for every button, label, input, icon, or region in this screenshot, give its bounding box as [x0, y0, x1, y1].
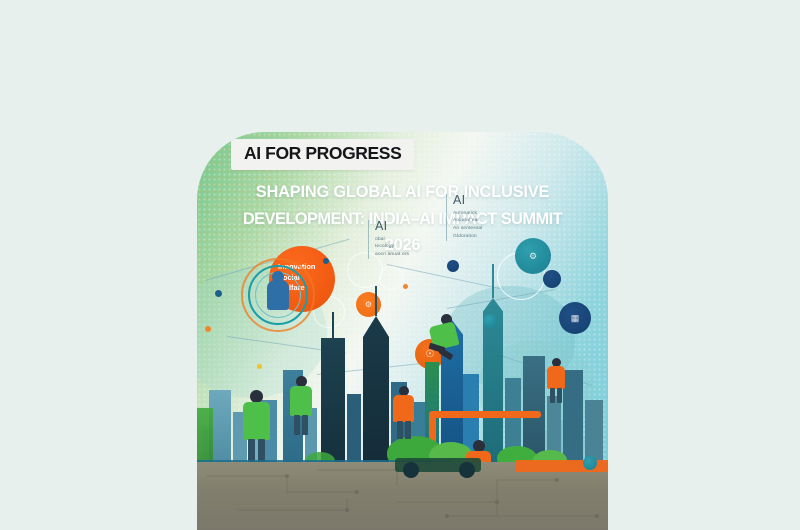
node-chip-icon: ▦ — [559, 302, 591, 334]
network-node-blue — [543, 270, 561, 288]
hud-figure-body-icon — [267, 280, 289, 310]
poster: AI FOR PROGRESS SHAPING GLOBAL AI FOR IN… — [197, 132, 608, 530]
label-rule — [368, 220, 369, 259]
network-node-teal: ⚙ — [515, 238, 551, 274]
person-legs — [294, 415, 300, 435]
callout-ai-right: AI Autonatick Aolleral ear An sentessal … — [453, 194, 529, 241]
ground-node — [583, 456, 597, 470]
node-dna-icon: ⚙ — [515, 238, 551, 274]
title-line-1: SHAPING GLOBAL AI FOR INCLUSIVE — [219, 179, 586, 206]
network-node-dot — [323, 258, 329, 264]
callout-sub-1: obal — [375, 236, 441, 244]
spire — [492, 264, 494, 298]
person-legs — [557, 388, 562, 403]
person-torso — [243, 402, 270, 440]
vehicle-wheel — [459, 462, 475, 478]
callout-ai-center: AI obal tecology aocn anuat ors — [375, 220, 441, 259]
network-node-dot — [215, 290, 222, 297]
callout-sub-1: Autonatick — [453, 210, 529, 218]
building — [563, 370, 583, 466]
network-node-blue — [447, 260, 459, 272]
vehicle-wheel — [403, 462, 419, 478]
network-node-dot — [205, 326, 211, 332]
callout-sub-3: aocn anuat ors — [375, 251, 441, 259]
network-node-dot — [257, 364, 262, 369]
person-torso — [393, 395, 414, 422]
spire — [332, 312, 334, 338]
screen: AI FOR PROGRESS SHAPING GLOBAL AI FOR IN… — [0, 0, 800, 530]
person-legs — [302, 415, 308, 435]
callout-subtitle: Autonatick Aolleral ear An sentessal Gld… — [453, 210, 529, 242]
label-rule — [446, 194, 447, 241]
callout-sub-3: An sentessal — [453, 225, 529, 233]
orange-beam — [429, 411, 541, 418]
callout-sub-2: tecology — [375, 243, 441, 251]
decorative-ring — [379, 266, 403, 290]
building-tower — [363, 316, 389, 466]
illustration: Innovation Social Welfare ⚙ ☉ AI obal te… — [197, 244, 608, 530]
person-torso — [547, 366, 565, 389]
network-node-dot — [403, 284, 408, 289]
building-tower — [321, 338, 345, 466]
callout-title: AI — [453, 194, 529, 207]
orange-node-small: ⚙ — [356, 292, 381, 317]
building — [347, 394, 361, 466]
network-node-teal — [483, 314, 497, 328]
person-legs — [550, 388, 555, 403]
person-torso — [290, 386, 312, 416]
person-legs — [405, 421, 411, 439]
badge-ai-for-progress: AI FOR PROGRESS — [231, 139, 414, 170]
callout-title: AI — [375, 220, 441, 233]
spire — [375, 286, 377, 316]
callout-sub-2: Aolleral ear — [453, 217, 529, 225]
hud-ring-graphic — [241, 258, 315, 332]
network-node-blue: ▦ — [559, 302, 591, 334]
callout-subtitle: obal tecology aocn anuat ors — [375, 236, 441, 260]
node-glyph-icon: ⚙ — [356, 292, 381, 317]
person-legs — [397, 421, 403, 439]
badge-label: AI FOR PROGRESS — [244, 145, 401, 163]
building-green — [197, 408, 213, 466]
